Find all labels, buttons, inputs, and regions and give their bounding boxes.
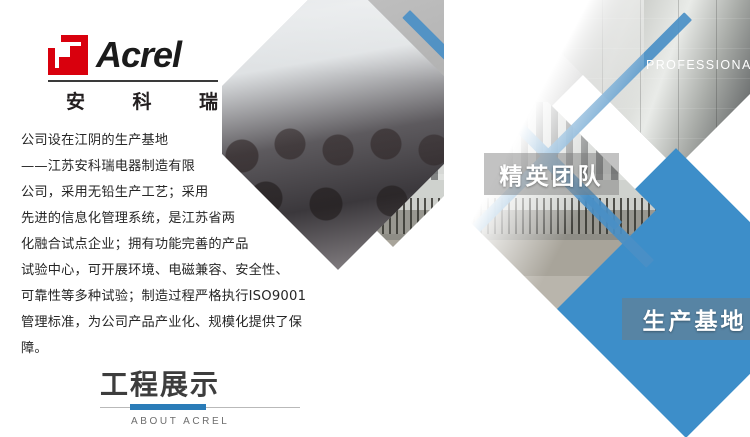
acrel-logo: Acrel 安 科 瑞 bbox=[48, 33, 218, 77]
logo-chinese-name: 安 科 瑞 bbox=[66, 87, 218, 114]
description-line-8: 管理标准，为公司产品产业化、规模化提供了保障。 bbox=[21, 310, 321, 362]
company-description: 公司设在江阴的生产基地 ——江苏安科瑞电器制造有限 公司，采用无铅生产工艺；采用… bbox=[21, 128, 321, 362]
about-heading-accent bbox=[130, 404, 206, 410]
description-line-4: 先进的信息化管理系统，是江苏省两 bbox=[21, 206, 321, 232]
description-line-3: 公司，采用无铅生产工艺；采用 bbox=[21, 180, 321, 206]
logo-wordmark: Acrel bbox=[96, 37, 181, 73]
logo-row: Acrel bbox=[48, 33, 218, 77]
about-heading-cn: 工程展示 bbox=[100, 368, 300, 402]
acrel-square-icon bbox=[48, 35, 88, 75]
label-production-base: 生产基地 bbox=[622, 298, 750, 340]
label-professional: PROFESSIONAL bbox=[646, 58, 750, 72]
promo-banner: 精英团队 PROFESSIONAL 专业设备 生产基地 CREDIBILITY … bbox=[0, 0, 750, 437]
description-line-5: 化融合试点企业；拥有功能完善的产品 bbox=[21, 232, 321, 258]
description-line-6: 试验中心，可开展环境、电磁兼容、安全性、 bbox=[21, 258, 321, 284]
about-section-heading: 工程展示 ABOUT ACREL bbox=[100, 368, 300, 427]
description-line-1: 公司设在江阴的生产基地 bbox=[21, 128, 321, 154]
logo-cn-char-2: 科 bbox=[132, 87, 151, 114]
description-line-2: ——江苏安科瑞电器制造有限 bbox=[21, 154, 321, 180]
logo-cn-char-3: 瑞 bbox=[199, 87, 218, 114]
about-heading-en: ABOUT ACREL bbox=[131, 416, 300, 427]
logo-cn-char-1: 安 bbox=[66, 87, 85, 114]
logo-divider bbox=[48, 80, 218, 82]
left-text-column: Acrel 安 科 瑞 公司设在江阴的生产基地 ——江苏安科瑞电器制造有限 公司… bbox=[0, 0, 330, 437]
description-line-7: 可靠性等多种试验；制造过程严格执行ISO9001 bbox=[21, 284, 321, 310]
label-elite-team: 精英团队 bbox=[484, 153, 619, 195]
about-heading-rule bbox=[100, 407, 300, 408]
